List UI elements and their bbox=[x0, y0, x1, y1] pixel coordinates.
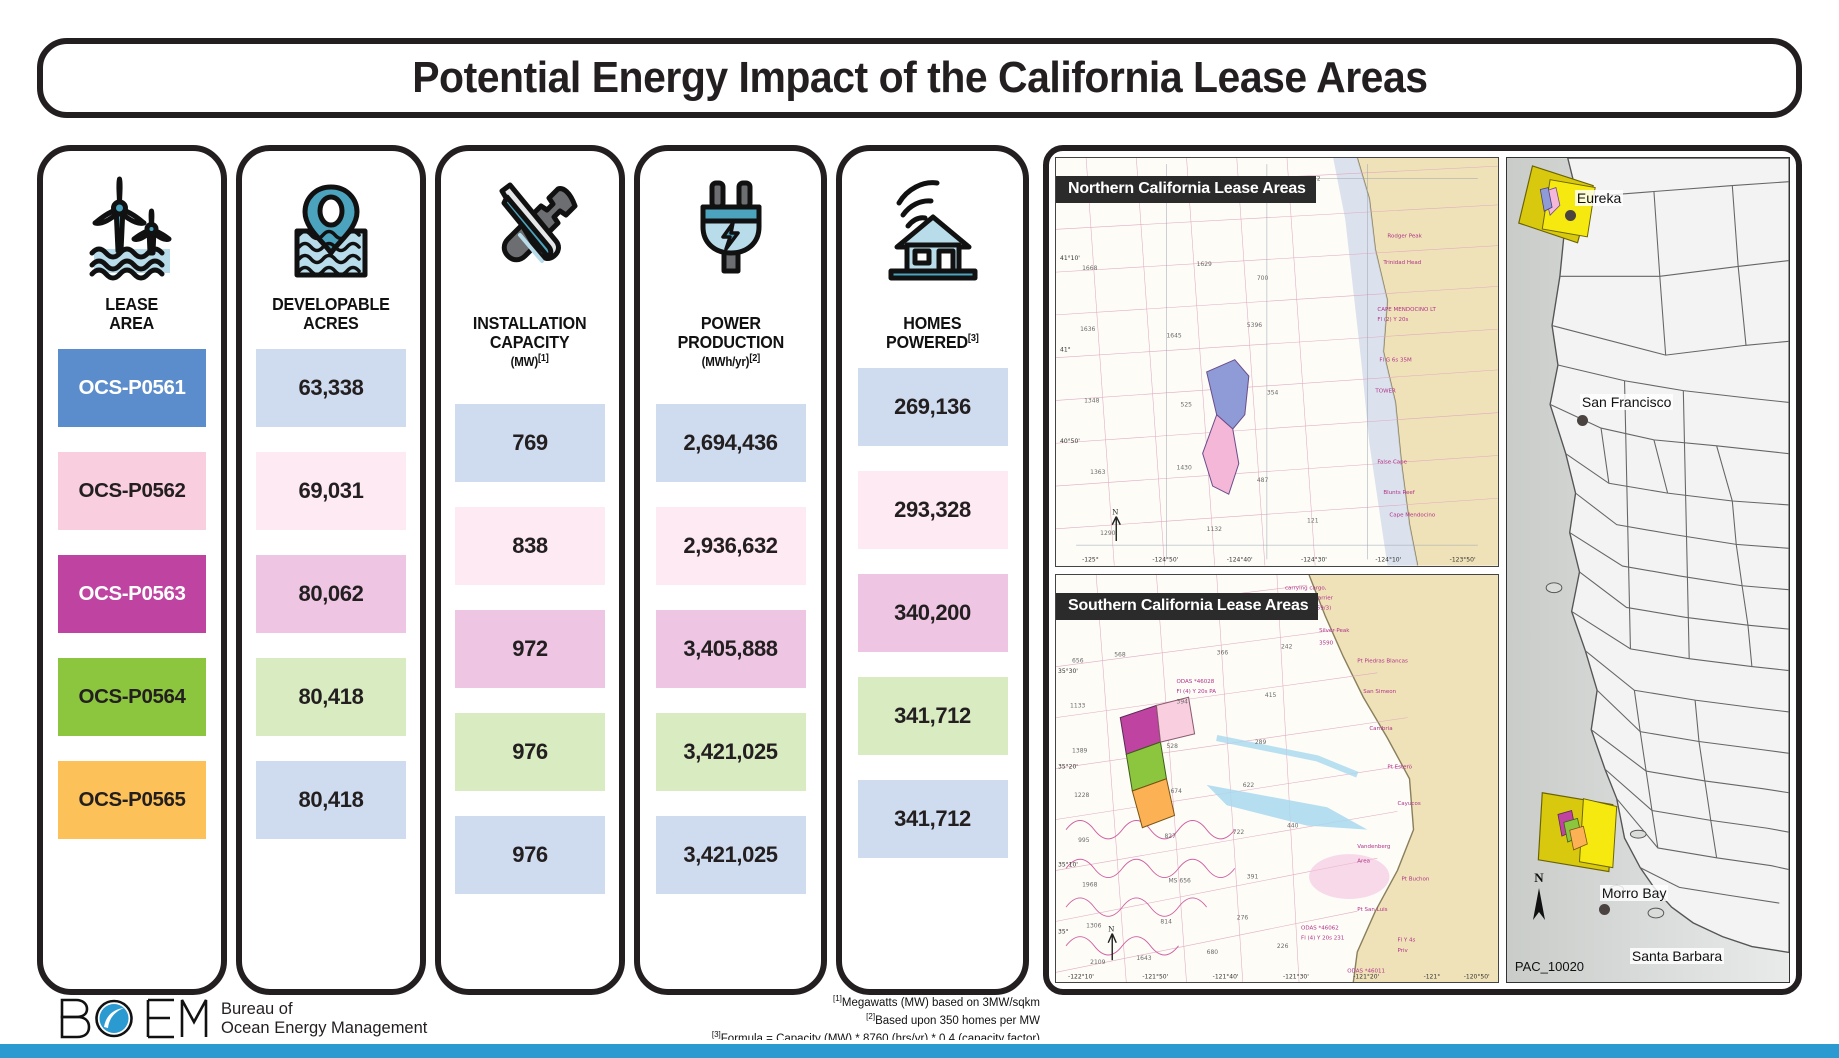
svg-text:722: 722 bbox=[1233, 828, 1245, 835]
cell-value: OCS-P0564 bbox=[79, 685, 186, 709]
svg-text:827: 827 bbox=[1164, 832, 1176, 839]
svg-text:-125°: -125° bbox=[1082, 555, 1099, 563]
wrench-screwdriver-icon bbox=[474, 165, 586, 293]
svg-text:N: N bbox=[1112, 508, 1118, 517]
svg-text:1636: 1636 bbox=[1080, 326, 1095, 333]
svg-text:Fl (4) Y 20s PA: Fl (4) Y 20s PA bbox=[1177, 689, 1217, 695]
table-cell: 69,031 bbox=[256, 452, 406, 530]
svg-text:Pt San Luis: Pt San Luis bbox=[1357, 907, 1387, 913]
svg-text:121: 121 bbox=[1307, 518, 1319, 525]
svg-text:995: 995 bbox=[1078, 836, 1090, 843]
header-text: INSTALLATION CAPACITY bbox=[473, 313, 586, 352]
lease-area-swatch: OCS-P0564 bbox=[58, 658, 206, 736]
cell-value: 341,712 bbox=[894, 806, 971, 832]
cell-value: 972 bbox=[512, 636, 548, 662]
table-cell: 976 bbox=[455, 713, 605, 791]
svg-text:1629: 1629 bbox=[1197, 261, 1212, 268]
svg-text:1430: 1430 bbox=[1177, 465, 1192, 472]
cell-value: 3,421,025 bbox=[683, 842, 777, 868]
cell-value: 80,062 bbox=[299, 581, 364, 607]
southern-california-chart[interactable]: 682601188 656568366242 1133394415 138952… bbox=[1055, 574, 1499, 984]
table-cell: 3,405,888 bbox=[656, 610, 806, 688]
cell-value: 838 bbox=[512, 533, 548, 559]
column-cells-installation-capacity: 769 838 972 976 976 bbox=[441, 404, 619, 894]
nautical-charts: 1695660572 16681629700 163616455396 1348… bbox=[1055, 157, 1499, 983]
header-text: POWER PRODUCTION bbox=[677, 313, 783, 352]
svg-text:1645: 1645 bbox=[1166, 332, 1181, 339]
svg-text:1348: 1348 bbox=[1084, 397, 1099, 404]
svg-text:Rodger Peak: Rodger Peak bbox=[1387, 233, 1422, 239]
offshore-wind-turbines-icon bbox=[76, 165, 188, 293]
svg-text:35°20': 35°20' bbox=[1058, 762, 1078, 770]
table-cell: 3,421,025 bbox=[656, 713, 806, 791]
svg-text:2109: 2109 bbox=[1090, 959, 1105, 966]
column-header-label-3: POWER PRODUCTION (MWh/yr)[2] bbox=[677, 295, 783, 388]
california-locator-map[interactable]: Eureka San Francisco Morro Bay Santa Bar… bbox=[1506, 157, 1790, 983]
cell-value: OCS-P0563 bbox=[79, 582, 186, 606]
svg-text:-121°50': -121°50' bbox=[1142, 972, 1168, 980]
city-dot-morro-bay bbox=[1599, 904, 1610, 915]
table-cell: 80,418 bbox=[256, 658, 406, 736]
table-cell: 341,712 bbox=[858, 780, 1008, 858]
cell-value: 269,136 bbox=[894, 394, 971, 420]
svg-text:Priv: Priv bbox=[1397, 947, 1408, 953]
cell-value: OCS-P0565 bbox=[79, 788, 186, 812]
boem-subtitle: Bureau of Ocean Energy Management bbox=[221, 1000, 427, 1039]
svg-text:656: 656 bbox=[1072, 657, 1084, 664]
svg-text:680: 680 bbox=[1207, 948, 1219, 955]
svg-text:1668: 1668 bbox=[1082, 265, 1097, 272]
svg-text:MS 656: MS 656 bbox=[1168, 877, 1191, 884]
svg-text:1228: 1228 bbox=[1074, 792, 1089, 799]
svg-text:carrying cargo,: carrying cargo, bbox=[1285, 585, 1327, 591]
svg-text:700: 700 bbox=[1257, 275, 1269, 282]
table-cell: 2,694,436 bbox=[656, 404, 806, 482]
svg-text:528: 528 bbox=[1166, 743, 1178, 750]
table-cell: 972 bbox=[455, 610, 605, 688]
city-dot-san-francisco bbox=[1577, 415, 1588, 426]
cell-value: OCS-P0561 bbox=[79, 376, 186, 400]
table-cell: 838 bbox=[455, 507, 605, 585]
svg-text:Fl (4) Y 20s 231: Fl (4) Y 20s 231 bbox=[1301, 935, 1345, 941]
column-cells-homes-powered: 269,136 293,328 340,200 341,712 341,712 bbox=[842, 368, 1023, 858]
cell-value: 293,328 bbox=[894, 497, 971, 523]
cell-value: 2,694,436 bbox=[683, 430, 777, 456]
cell-value: 340,200 bbox=[894, 600, 971, 626]
unit-text: (MW) bbox=[511, 355, 538, 369]
svg-text:Pt Piedras Blancas: Pt Piedras Blancas bbox=[1357, 658, 1408, 664]
column-header-label-2: INSTALLATION CAPACITY (MW)[1] bbox=[473, 295, 586, 388]
southern-map-label: Southern California Lease Areas bbox=[1056, 593, 1318, 620]
footnote-text: Megawatts (MW) based on 3MW/sqkm bbox=[842, 997, 1040, 1009]
page-title: Potential Energy Impact of the Californi… bbox=[412, 53, 1427, 103]
svg-text:622: 622 bbox=[1243, 781, 1255, 788]
svg-text:41°: 41° bbox=[1060, 346, 1071, 354]
column-homes-powered: HOMES POWERED[3] 269,136 293,328 340,200… bbox=[836, 145, 1029, 995]
table-cell: 63,338 bbox=[256, 349, 406, 427]
city-label-morro-bay: Morro Bay bbox=[1600, 885, 1669, 901]
svg-text:Trinidad Head: Trinidad Head bbox=[1382, 260, 1421, 266]
table-cell: 293,328 bbox=[858, 471, 1008, 549]
svg-text:Silver Peak: Silver Peak bbox=[1319, 628, 1350, 634]
header-unit: (MWh/yr)[2] bbox=[677, 354, 783, 370]
infographic-page: Potential Energy Impact of the Californi… bbox=[0, 0, 1839, 1058]
svg-text:276: 276 bbox=[1237, 914, 1249, 921]
boem-wordmark-svg bbox=[56, 996, 212, 1042]
svg-text:-121°40': -121°40' bbox=[1213, 972, 1239, 980]
table-cell: 341,712 bbox=[858, 677, 1008, 755]
header-text: HOMES POWERED bbox=[886, 313, 968, 352]
footnote-marker: [1] bbox=[538, 353, 549, 364]
svg-text:366: 366 bbox=[1217, 649, 1229, 656]
bottom-accent-bar bbox=[0, 1044, 1839, 1058]
svg-text:41°10': 41°10' bbox=[1060, 254, 1080, 262]
svg-text:1968: 1968 bbox=[1082, 881, 1097, 888]
svg-text:Pt Buchon: Pt Buchon bbox=[1401, 876, 1429, 882]
lease-area-swatch: OCS-P0562 bbox=[58, 452, 206, 530]
cell-value: 80,418 bbox=[299, 684, 364, 710]
city-label-eureka: Eureka bbox=[1575, 190, 1623, 206]
boem-subtitle-line1: Bureau of bbox=[221, 1000, 427, 1019]
map-id-label: PAC_10020 bbox=[1515, 959, 1584, 974]
table-cell: 80,062 bbox=[256, 555, 406, 633]
northern-map-label: Northern California Lease Areas bbox=[1056, 176, 1316, 203]
cell-value: 2,936,632 bbox=[683, 533, 777, 559]
svg-text:35°30': 35°30' bbox=[1058, 666, 1078, 674]
svg-text:1389: 1389 bbox=[1072, 747, 1087, 754]
cell-value: 80,418 bbox=[299, 787, 364, 813]
lease-area-swatch: OCS-P0565 bbox=[58, 761, 206, 839]
column-cells-power-production: 2,694,436 2,936,632 3,405,888 3,421,025 … bbox=[640, 404, 821, 894]
city-label-san-francisco: San Francisco bbox=[1580, 394, 1673, 410]
svg-text:1290: 1290 bbox=[1100, 530, 1115, 537]
svg-text:354: 354 bbox=[1267, 389, 1279, 396]
maps-panel: 1695660572 16681629700 163616455396 1348… bbox=[1043, 145, 1802, 995]
column-developable-acres: DEVELOPABLE ACRES 63,338 69,031 80,062 8… bbox=[236, 145, 426, 995]
table-cell: 80,418 bbox=[256, 761, 406, 839]
column-header-label-1: DEVELOPABLE ACRES bbox=[272, 295, 390, 333]
svg-text:Cayucos: Cayucos bbox=[1397, 801, 1420, 807]
lease-area-swatch: OCS-P0561 bbox=[58, 349, 206, 427]
svg-text:1363: 1363 bbox=[1090, 469, 1105, 476]
svg-text:Fl Y 4s: Fl Y 4s bbox=[1397, 937, 1415, 943]
svg-text:ODAS *46028: ODAS *46028 bbox=[1177, 678, 1215, 684]
svg-text:394: 394 bbox=[1177, 698, 1189, 705]
svg-text:415: 415 bbox=[1265, 692, 1277, 699]
svg-text:-123°50': -123°50' bbox=[1450, 555, 1476, 563]
svg-text:Fl G 6s 35M: Fl G 6s 35M bbox=[1379, 358, 1412, 364]
svg-text:-124°30': -124°30' bbox=[1301, 555, 1327, 563]
svg-text:440: 440 bbox=[1287, 822, 1299, 829]
column-cells-lease-area: OCS-P0561 OCS-P0562 OCS-P0563 OCS-P0564 … bbox=[43, 349, 221, 839]
boem-subtitle-line2: Ocean Energy Management bbox=[221, 1019, 427, 1038]
svg-text:Cape Mendocino: Cape Mendocino bbox=[1389, 513, 1435, 519]
svg-text:Blunts Reef: Blunts Reef bbox=[1383, 490, 1415, 496]
city-dot-eureka bbox=[1565, 210, 1576, 221]
svg-text:568: 568 bbox=[1114, 651, 1126, 658]
column-header-label-0: LEASE AREA bbox=[106, 295, 159, 333]
svg-text:ODAS *46062: ODAS *46062 bbox=[1301, 925, 1339, 931]
cell-value: 69,031 bbox=[299, 478, 364, 504]
header-unit: (MW)[1] bbox=[473, 354, 586, 370]
footnote-marker: [2] bbox=[866, 1012, 875, 1021]
svg-text:5396: 5396 bbox=[1247, 322, 1262, 329]
svg-text:35°10': 35°10' bbox=[1058, 860, 1078, 868]
house-wifi-icon bbox=[877, 165, 989, 293]
svg-text:35°: 35° bbox=[1058, 927, 1069, 935]
cell-value: 976 bbox=[512, 842, 548, 868]
column-power-production: POWER PRODUCTION (MWh/yr)[2] 2,694,436 2… bbox=[634, 145, 827, 995]
footnote-marker: [1] bbox=[833, 994, 842, 1003]
locator-map-graphic bbox=[1507, 158, 1789, 982]
svg-text:San Simeon: San Simeon bbox=[1363, 689, 1396, 695]
svg-text:-124°40': -124°40' bbox=[1227, 555, 1253, 563]
cell-value: 63,338 bbox=[299, 375, 364, 401]
footnote-marker: [3] bbox=[968, 333, 979, 344]
column-installation-capacity: INSTALLATION CAPACITY (MW)[1] 769 838 97… bbox=[435, 145, 625, 995]
table-cell: 976 bbox=[455, 816, 605, 894]
svg-text:-121°30': -121°30' bbox=[1283, 972, 1309, 980]
footnote-marker: [2] bbox=[749, 353, 760, 364]
svg-text:CAPE MENDOCINO LT: CAPE MENDOCINO LT bbox=[1377, 307, 1436, 313]
city-label-santa-barbara: Santa Barbara bbox=[1630, 948, 1724, 964]
svg-text:814: 814 bbox=[1160, 918, 1172, 925]
svg-text:-124°10': -124°10' bbox=[1375, 555, 1401, 563]
svg-text:391: 391 bbox=[1247, 873, 1259, 880]
column-header-label-4: HOMES POWERED[3] bbox=[886, 295, 979, 352]
svg-text:False Cape: False Cape bbox=[1377, 460, 1407, 466]
svg-text:-124°50': -124°50' bbox=[1152, 555, 1178, 563]
svg-text:487: 487 bbox=[1257, 477, 1269, 484]
north-arrow-icon bbox=[1529, 886, 1549, 924]
footnote-text: Based upon 350 homes per MW bbox=[875, 1015, 1040, 1027]
lease-area-inset-south bbox=[1538, 793, 1616, 872]
svg-text:TOWER: TOWER bbox=[1374, 388, 1396, 394]
svg-text:Area: Area bbox=[1357, 858, 1370, 864]
cell-value: 769 bbox=[512, 430, 548, 456]
svg-text:226: 226 bbox=[1277, 942, 1289, 949]
footnote-item: [2]Based upon 350 homes per MW bbox=[700, 1011, 1040, 1029]
electric-plug-icon bbox=[675, 165, 787, 293]
svg-text:1132: 1132 bbox=[1207, 526, 1222, 533]
svg-text:-120°50': -120°50' bbox=[1464, 972, 1490, 980]
svg-text:40°50': 40°50' bbox=[1060, 437, 1080, 445]
cell-value: 3,421,025 bbox=[683, 739, 777, 765]
svg-text:525: 525 bbox=[1181, 402, 1193, 409]
boem-wordmark bbox=[56, 996, 212, 1042]
north-arrow-label: N bbox=[1529, 870, 1549, 886]
title-container: Potential Energy Impact of the Californi… bbox=[37, 38, 1802, 118]
cell-value: OCS-P0562 bbox=[79, 479, 186, 503]
table-cell: 2,936,632 bbox=[656, 507, 806, 585]
cell-value: 976 bbox=[512, 739, 548, 765]
column-lease-area: LEASE AREA OCS-P0561 OCS-P0562 OCS-P0563… bbox=[37, 145, 227, 995]
svg-text:1643: 1643 bbox=[1136, 955, 1151, 962]
unit-text: (MWh/yr) bbox=[701, 355, 749, 369]
northern-chart-graphic: 1695660572 16681629700 163616455396 1348… bbox=[1056, 158, 1498, 566]
svg-text:-121°20': -121°20' bbox=[1353, 972, 1379, 980]
svg-text:1133: 1133 bbox=[1070, 702, 1085, 709]
southern-chart-graphic: 682601188 656568366242 1133394415 138952… bbox=[1056, 575, 1498, 983]
table-cell: 769 bbox=[455, 404, 605, 482]
svg-text:242: 242 bbox=[1281, 643, 1293, 650]
svg-text:Cambria: Cambria bbox=[1369, 725, 1392, 731]
lease-area-swatch: OCS-P0563 bbox=[58, 555, 206, 633]
svg-text:3590: 3590 bbox=[1319, 640, 1333, 646]
data-table: LEASE AREA OCS-P0561 OCS-P0562 OCS-P0563… bbox=[37, 145, 1037, 995]
cell-value: 341,712 bbox=[894, 703, 971, 729]
map-pin-over-water-icon bbox=[275, 165, 387, 293]
table-cell: 269,136 bbox=[858, 368, 1008, 446]
cell-value: 3,405,888 bbox=[683, 636, 777, 662]
table-cell: 3,421,025 bbox=[656, 816, 806, 894]
northern-california-chart[interactable]: 1695660572 16681629700 163616455396 1348… bbox=[1055, 157, 1499, 567]
svg-text:-121°: -121° bbox=[1424, 972, 1441, 980]
locator-north-arrow: N bbox=[1529, 870, 1549, 924]
svg-text:Fl (2) Y 20s: Fl (2) Y 20s bbox=[1377, 317, 1408, 323]
svg-text:Pt Estero: Pt Estero bbox=[1387, 764, 1412, 770]
footnote-marker: [3] bbox=[712, 1030, 721, 1039]
footnote-item: [1]Megawatts (MW) based on 3MW/sqkm bbox=[700, 993, 1040, 1011]
svg-text:674: 674 bbox=[1170, 787, 1182, 794]
boem-logo: Bureau of Ocean Energy Management bbox=[56, 996, 427, 1042]
svg-text:1306: 1306 bbox=[1086, 922, 1101, 929]
svg-text:-122°10': -122°10' bbox=[1068, 972, 1094, 980]
svg-text:Vandenberg: Vandenberg bbox=[1357, 843, 1391, 849]
svg-text:N: N bbox=[1108, 924, 1114, 933]
column-cells-developable-acres: 63,338 69,031 80,062 80,418 80,418 bbox=[242, 349, 420, 839]
table-cell: 340,200 bbox=[858, 574, 1008, 652]
svg-text:289: 289 bbox=[1255, 739, 1267, 746]
